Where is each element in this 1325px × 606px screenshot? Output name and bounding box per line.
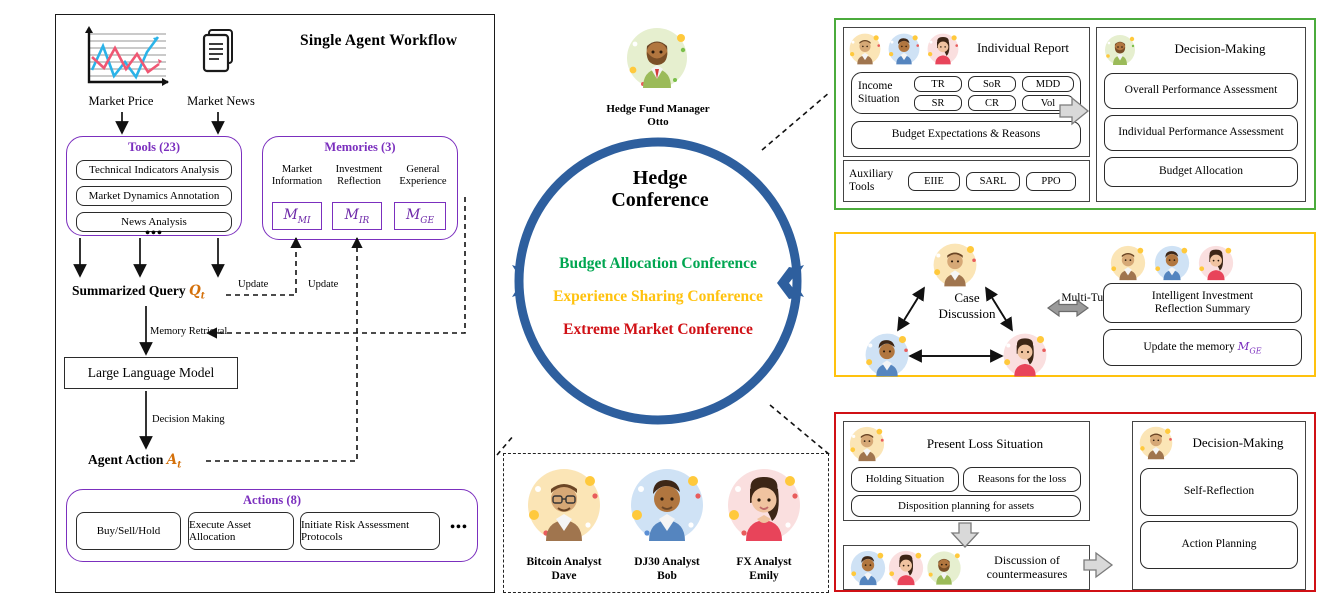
manager-avatar-green — [1102, 32, 1138, 68]
memory-heading: General Experience — [392, 164, 454, 188]
income-label-line2: Situation — [858, 93, 900, 105]
conference-extreme-market: Extreme Market Conference — [508, 321, 808, 339]
action-planning-box[interactable]: Action Planning — [1140, 521, 1298, 569]
memory-box-ge[interactable]: MGE — [394, 202, 446, 230]
summarized-query-label: Summarized Query Qt — [72, 283, 205, 302]
auxiliary-label-line2: Tools — [849, 181, 874, 193]
analyst-avatar-yellow — [930, 240, 980, 290]
line-chart-icon — [78, 24, 170, 90]
query-symbol: Q — [189, 283, 201, 299]
conference-experience-sharing: Experience Sharing Conference — [508, 288, 808, 306]
individual-performance-assessment[interactable]: Individual Performance Assessment — [1104, 115, 1298, 151]
memory-subscript: MI — [298, 215, 311, 225]
memory-heading-line1: Investment — [336, 164, 383, 175]
actions-ellipsis: ••• — [444, 520, 474, 536]
documents-icon — [196, 26, 240, 86]
income-label-line1: Income — [858, 80, 892, 92]
summary-line2: Reflection Summary — [1155, 303, 1251, 316]
extreme-decision-title: Decision-Making — [1174, 435, 1302, 451]
analyst-avatar-yellow — [522, 463, 606, 547]
present-loss-title: Present Loss Situation — [890, 436, 1080, 452]
analyst-name: Emily — [749, 570, 778, 582]
analyst-name: Bob — [657, 570, 677, 582]
metric-vol[interactable]: Vol — [1022, 95, 1074, 111]
income-situation-label: Income Situation — [858, 80, 914, 106]
update-memory-box[interactable]: Update the memory MGE — [1103, 329, 1302, 366]
action-symbol: A — [167, 452, 177, 468]
memory-heading: Investment Reflection — [327, 164, 391, 188]
metric-sor[interactable]: SoR — [968, 76, 1016, 92]
analyst-avatar-blue — [625, 463, 709, 547]
agent-action-label: Agent Action At — [88, 452, 181, 471]
case-discussion-line2: Discussion — [938, 306, 995, 321]
analyst-avatar-pink — [925, 31, 961, 67]
manager-role: Hedge Fund Manager — [606, 103, 709, 115]
large-language-model-box[interactable]: Large Language Model — [64, 357, 238, 389]
market-price-label: Market Price — [66, 94, 176, 109]
conference-budget-allocation: Budget Allocation Conference — [508, 255, 808, 273]
analyst-avatar-yellow — [1137, 424, 1175, 462]
tool-item[interactable]: Market Dynamics Annotation — [76, 186, 232, 206]
memory-heading-line1: Market — [282, 164, 312, 175]
actions-title: Actions (8) — [66, 493, 478, 508]
summary-line1: Intelligent Investment — [1152, 290, 1253, 303]
case-discussion-line1: Case — [954, 290, 979, 305]
analyst-role: Bitcoin Analyst — [526, 556, 601, 568]
analyst-name: Dave — [552, 570, 577, 582]
auxiliary-label-line1: Auxiliary — [849, 168, 893, 180]
memory-box-ir[interactable]: MIR — [332, 202, 382, 230]
reasons-for-loss-box[interactable]: Reasons for the loss — [963, 467, 1081, 492]
analyst-label-fx: FX Analyst Emily — [710, 556, 818, 584]
analyst-avatar-blue — [862, 330, 912, 380]
action-item[interactable]: Initiate Risk Assessment Protocols — [300, 512, 440, 550]
memory-heading-line1: General — [406, 164, 439, 175]
reflection-summary-box[interactable]: Intelligent Investment Reflection Summar… — [1103, 283, 1302, 323]
analyst-label-dj30: DJ30 Analyst Bob — [608, 556, 726, 584]
agent-action-text: Agent Action — [88, 452, 163, 467]
aux-tool-sarl[interactable]: SARL — [966, 172, 1020, 191]
memory-heading-line2: Information — [272, 176, 322, 187]
manager-given-name: Otto — [647, 116, 668, 128]
circle-title-line1: Hedge — [633, 167, 687, 189]
update-label-2: Update — [308, 279, 338, 290]
countermeasures-line2: countermeasures — [987, 567, 1068, 581]
analyst-avatar-pink — [886, 548, 926, 588]
action-item[interactable]: Buy/Sell/Hold — [76, 512, 181, 550]
analyst-role: DJ30 Analyst — [634, 556, 700, 568]
auxiliary-tools-label: Auxiliary Tools — [849, 168, 905, 194]
market-news-label: Market News — [166, 94, 276, 109]
tools-ellipsis: ••• — [66, 226, 242, 242]
case-discussion-label: Case Discussion — [912, 290, 1022, 321]
metric-tr[interactable]: TR — [914, 76, 962, 92]
circle-title-line2: Conference — [611, 189, 708, 211]
manager-name: Hedge Fund Manager Otto — [595, 103, 721, 129]
aux-tool-eiie[interactable]: EIIE — [908, 172, 960, 191]
analyst-avatar-pink — [1000, 330, 1050, 380]
holding-situation-box[interactable]: Holding Situation — [851, 467, 959, 492]
circle-title: Hedge Conference — [560, 167, 760, 212]
analyst-avatar-yellow — [847, 31, 883, 67]
aux-tool-ppo[interactable]: PPO — [1026, 172, 1076, 191]
action-item[interactable]: Execute Asset Allocation — [188, 512, 294, 550]
memory-heading-line2: Experience — [399, 176, 446, 187]
analyst-avatar-yellow — [1108, 243, 1148, 283]
countermeasures-line1: Discussion of — [994, 553, 1060, 567]
memory-symbol: M — [345, 207, 359, 223]
budget-decision-title: Decision-Making — [1142, 41, 1298, 57]
disposition-planning-box[interactable]: Disposition planning for assets — [851, 495, 1081, 517]
tools-title: Tools (23) — [66, 140, 242, 155]
memory-subscript: GE — [420, 215, 434, 225]
memory-subscript: IR — [359, 215, 369, 225]
metric-mdd[interactable]: MDD — [1022, 76, 1074, 92]
countermeasures-label: Discussion of countermeasures — [970, 553, 1084, 582]
analyst-avatar-pink — [722, 463, 806, 547]
analyst-avatar-yellow — [847, 424, 887, 464]
individual-report-title: Individual Report — [960, 40, 1086, 56]
decision-making-label: Decision Making — [152, 414, 225, 425]
metric-sr[interactable]: SR — [914, 95, 962, 111]
analyst-avatar-pink — [1196, 243, 1236, 283]
update-label-1: Update — [238, 279, 268, 290]
memories-title: Memories (3) — [262, 140, 458, 155]
overall-performance-assessment[interactable]: Overall Performance Assessment — [1104, 73, 1298, 109]
self-reflection-box[interactable]: Self-Reflection — [1140, 468, 1298, 516]
update-memory-symbol: M — [1238, 339, 1250, 353]
analyst-avatar-blue — [886, 31, 922, 67]
summarized-query-text: Summarized Query — [72, 283, 186, 298]
metric-cr[interactable]: CR — [968, 95, 1016, 111]
analyst-role: FX Analyst — [736, 556, 791, 568]
memory-retrieval-label: Memory Retrieval — [150, 326, 227, 337]
memory-box-mi[interactable]: MMI — [272, 202, 322, 230]
update-memory-text: Update the memory — [1143, 341, 1234, 353]
analyst-avatar-blue — [1152, 243, 1192, 283]
page-title: Single Agent Workflow — [300, 32, 457, 50]
update-memory-subscript: GE — [1249, 346, 1261, 355]
manager-avatar-green — [924, 548, 964, 588]
analyst-avatar-blue — [848, 548, 888, 588]
budget-expectations-box[interactable]: Budget Expectations & Reasons — [851, 121, 1081, 149]
action-subscript: t — [177, 461, 181, 471]
memory-symbol: M — [283, 207, 297, 223]
memory-symbol: M — [406, 207, 420, 223]
memory-heading-line2: Reflection — [337, 176, 381, 187]
budget-allocation-item[interactable]: Budget Allocation — [1104, 157, 1298, 187]
query-subscript: t — [201, 292, 205, 302]
memory-heading: Market Information — [268, 164, 326, 188]
manager-avatar-green — [621, 22, 693, 94]
tool-item[interactable]: Technical Indicators Analysis — [76, 160, 232, 180]
